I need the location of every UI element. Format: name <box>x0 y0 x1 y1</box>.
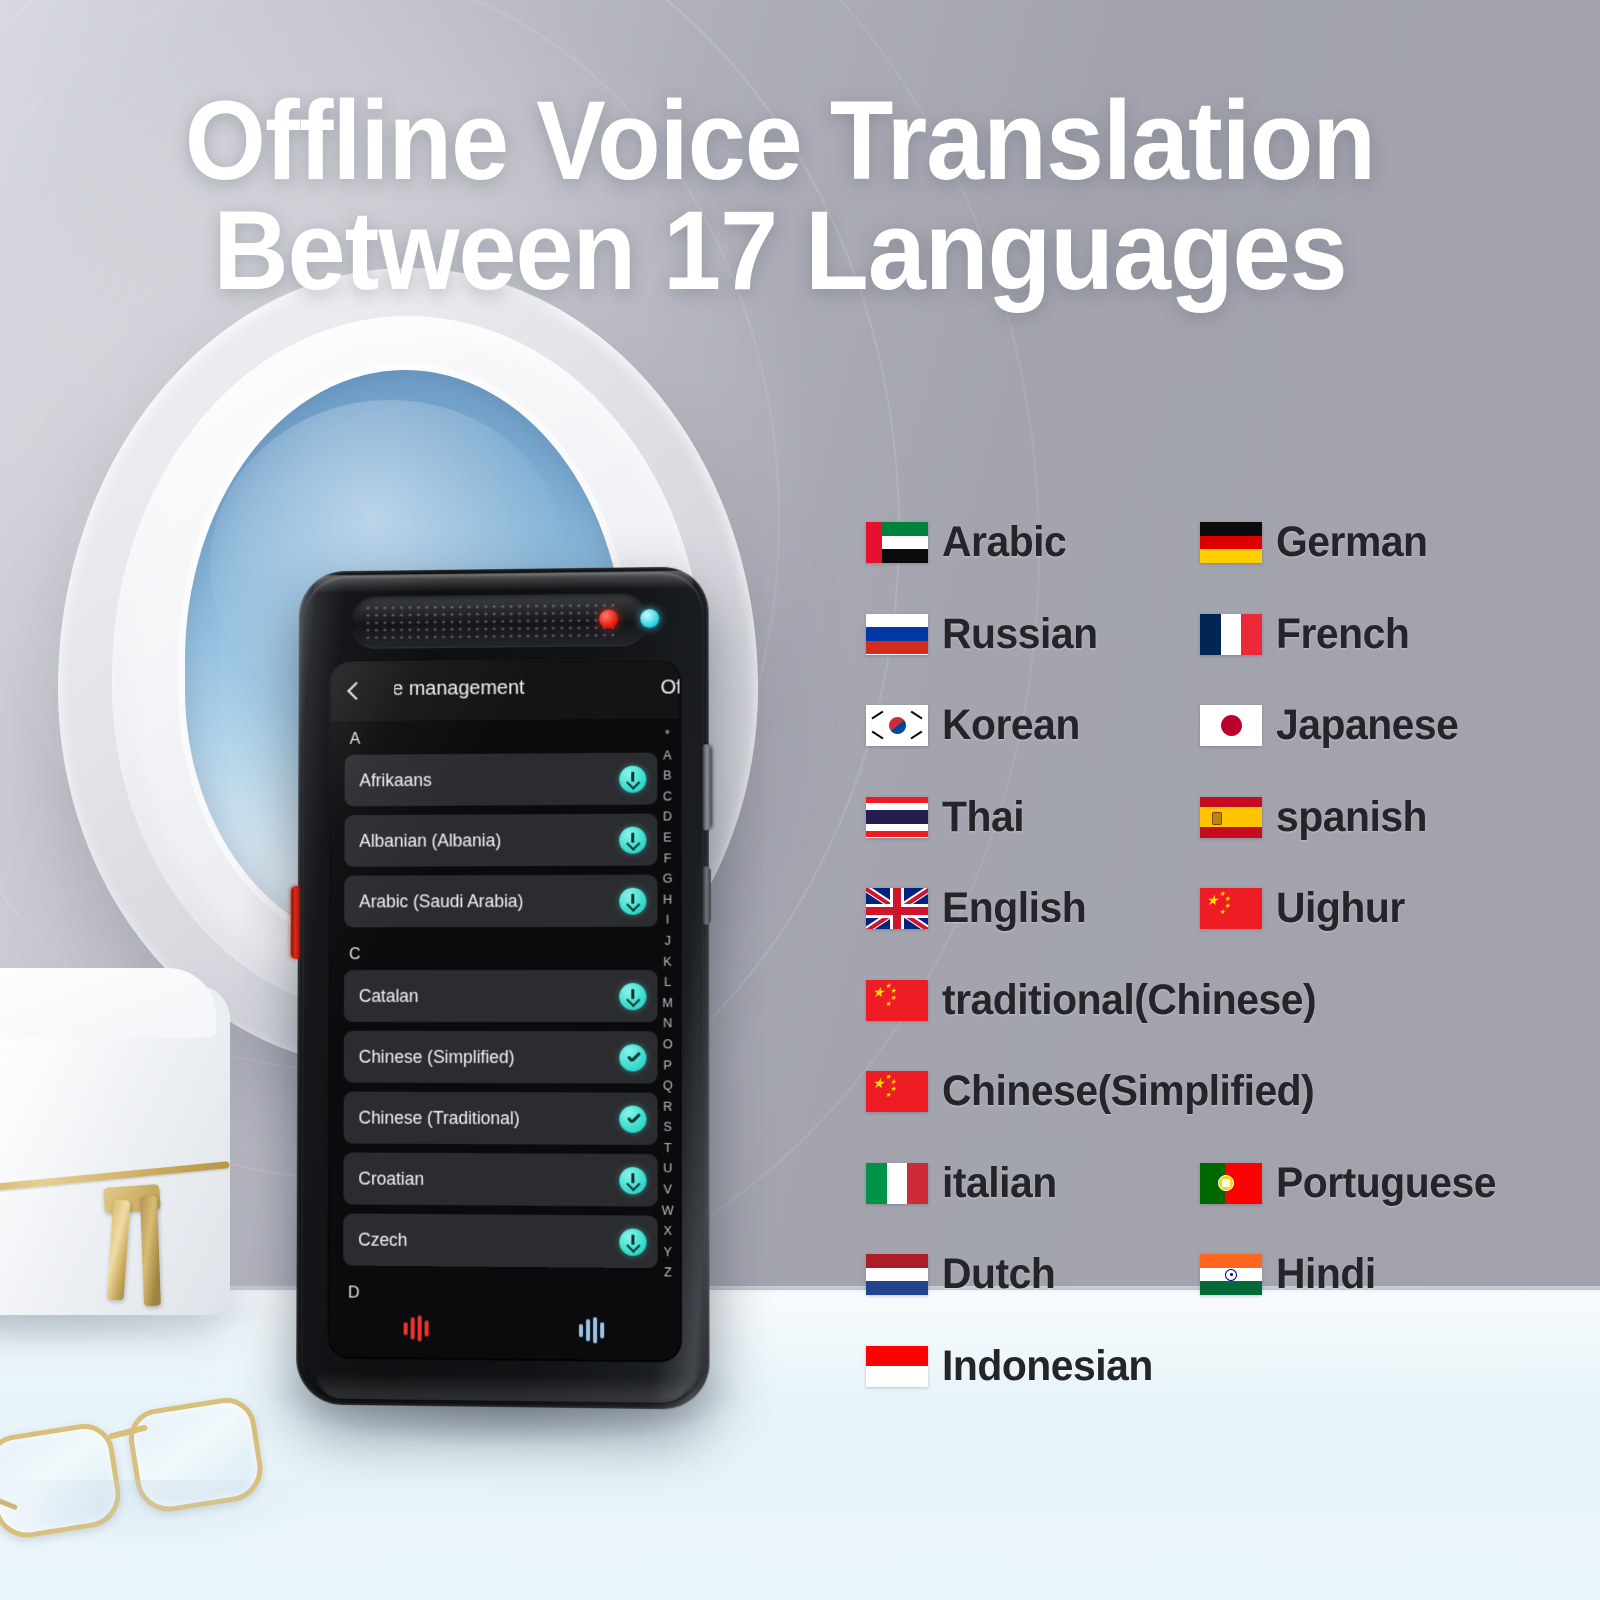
offline-label: Offl <box>661 676 680 699</box>
flag-icon-korean <box>866 705 928 746</box>
index-letter-A[interactable]: A <box>663 745 671 766</box>
flag-icon-chinese-simplified: ★★★★★ <box>866 1071 928 1112</box>
index-letter-I[interactable]: I <box>666 910 670 931</box>
index-letter-W[interactable]: W <box>662 1200 674 1221</box>
language-label: italian <box>942 1159 1057 1208</box>
language-label: English <box>942 884 1086 933</box>
record-led-indicator <box>599 609 618 628</box>
volume-button[interactable] <box>703 744 712 830</box>
translate-button[interactable] <box>291 886 300 959</box>
download-icon[interactable] <box>619 1167 646 1194</box>
language-label: Portuguese <box>1276 1159 1496 1208</box>
language-row[interactable]: Afrikaans <box>345 753 658 807</box>
index-letter-P[interactable]: P <box>663 1055 671 1076</box>
index-letter-Z[interactable]: Z <box>664 1263 672 1284</box>
language-row-label: Albanian (Albania) <box>344 830 501 852</box>
eyeglasses-reflection <box>0 1480 320 1550</box>
language-label: Thai <box>942 793 1024 842</box>
index-letter-L[interactable]: L <box>664 972 671 993</box>
flag-icon-french <box>1200 614 1262 655</box>
language-label: spanish <box>1276 793 1427 842</box>
language-entry: Portuguese <box>1200 1159 1508 1208</box>
language-row[interactable]: Catalan <box>344 970 658 1022</box>
language-row[interactable]: Albanian (Albania) <box>344 814 657 867</box>
language-entry: Thai <box>866 793 1028 842</box>
language-row-label: Chinese (Traditional) <box>344 1107 520 1129</box>
language-entry: spanish <box>1200 793 1435 842</box>
language-row[interactable]: Chinese (Simplified) <box>344 1031 658 1084</box>
device-body: e management Offl AAfrikaansAlbanian (Al… <box>296 566 709 1409</box>
index-letter-E[interactable]: E <box>663 827 671 848</box>
bag-lid <box>0 968 216 1038</box>
language-entry: German <box>1200 518 1436 567</box>
index-letter-T[interactable]: T <box>664 1138 672 1159</box>
language-row-label: Arabic (Saudi Arabia) <box>344 891 523 912</box>
language-grid-row: RussianFrench <box>866 610 1566 702</box>
download-icon[interactable] <box>619 766 646 793</box>
index-letter-H[interactable]: H <box>663 889 672 910</box>
screen-header: e management Offl <box>331 661 679 722</box>
language-label: Indonesian <box>942 1342 1153 1391</box>
language-grid-row: ArabicGerman <box>866 518 1566 610</box>
language-entry: ★★★★★traditional(Chinese) <box>866 976 1336 1025</box>
record-source-waveform-icon[interactable] <box>404 1315 429 1341</box>
language-label: Russian <box>942 610 1098 659</box>
language-row-label: Czech <box>343 1229 407 1251</box>
language-row[interactable]: Croatian <box>343 1152 657 1206</box>
language-label: Hindi <box>1276 1250 1376 1299</box>
download-icon[interactable] <box>619 888 646 915</box>
language-entry: Hindi <box>1200 1250 1381 1299</box>
index-letter-G[interactable]: G <box>663 869 673 890</box>
language-label: Dutch <box>942 1250 1055 1299</box>
language-entry: Indonesian <box>866 1342 1164 1391</box>
language-label: Uighur <box>1276 884 1405 933</box>
language-grid-row: English★★★★★Uighur <box>866 884 1566 976</box>
flag-icon-uighur: ★★★★★ <box>1200 888 1262 929</box>
screen-title: e management <box>392 677 524 701</box>
language-row-label: Afrikaans <box>345 770 432 791</box>
title-clip-mask <box>382 663 394 720</box>
flag-icon-japanese <box>1200 705 1262 746</box>
language-grid-row: ★★★★★traditional(Chinese) <box>866 976 1566 1068</box>
index-letter-F[interactable]: F <box>664 848 672 869</box>
language-row-label: Catalan <box>344 986 419 1007</box>
translator-device: e management Offl AAfrikaansAlbanian (Al… <box>296 567 708 1417</box>
language-entry: Arabic <box>866 518 1073 567</box>
language-grid-row: KoreanJapanese <box>866 701 1566 793</box>
download-icon[interactable] <box>619 1229 646 1256</box>
flag-icon-spanish <box>1200 797 1262 838</box>
language-row-label: Chinese (Simplified) <box>344 1046 515 1067</box>
flag-icon-traditional-chinese: ★★★★★ <box>866 980 928 1021</box>
download-icon[interactable] <box>619 983 646 1010</box>
device-screen[interactable]: e management Offl AAfrikaansAlbanian (Al… <box>329 661 680 1361</box>
index-letter-S[interactable]: S <box>663 1117 671 1138</box>
index-letter-N[interactable]: N <box>663 1013 672 1034</box>
language-label: traditional(Chinese) <box>942 976 1316 1025</box>
language-label: Japanese <box>1276 701 1458 750</box>
language-label: Chinese(Simplified) <box>942 1067 1314 1116</box>
language-row-label: Croatian <box>343 1168 424 1189</box>
language-label: Korean <box>942 701 1080 750</box>
language-grid-row: Thaispanish <box>866 793 1566 885</box>
index-letter-D[interactable]: D <box>663 807 672 828</box>
language-entry: ★★★★★Chinese(Simplified) <box>866 1067 1334 1116</box>
language-entry: ★★★★★Uighur <box>1200 884 1412 933</box>
language-grid-row: Indonesian <box>866 1342 1566 1434</box>
section-letter-C: C <box>344 936 657 970</box>
index-letter-R[interactable]: R <box>663 1096 672 1117</box>
language-entry: Korean <box>866 701 1087 750</box>
index-letter-M[interactable]: M <box>662 993 673 1014</box>
alphabet-index-scrollbar[interactable]: *ABCDEFGHIJKLMNOPQRSTUVWXYZ <box>658 724 677 1283</box>
language-row[interactable]: Czech <box>343 1213 657 1268</box>
section-letter-A: A <box>345 719 658 755</box>
index-letter-U[interactable]: U <box>663 1159 672 1180</box>
status-led-indicator <box>640 609 659 628</box>
page-title-line1: Offline Voice Translation <box>185 78 1375 203</box>
flag-icon-indonesian <box>866 1346 928 1387</box>
language-entry: italian <box>866 1159 1063 1208</box>
flag-icon-english <box>866 888 928 929</box>
index-letter-J[interactable]: J <box>664 931 670 952</box>
supported-languages-grid: ArabicGermanRussianFrenchKoreanJapaneseT… <box>866 518 1566 1433</box>
language-grid-row: italianPortuguese <box>866 1159 1566 1251</box>
language-entry: Japanese <box>1200 701 1468 750</box>
flag-icon-dutch <box>866 1254 928 1295</box>
flag-icon-german <box>1200 522 1262 563</box>
language-row[interactable]: Arabic (Saudi Arabia) <box>344 875 657 928</box>
flag-icon-thai <box>866 797 928 838</box>
record-target-waveform-icon[interactable] <box>579 1317 604 1344</box>
language-label: French <box>1276 610 1409 659</box>
language-grid-row: DutchHindi <box>866 1250 1566 1342</box>
language-row[interactable]: Chinese (Traditional) <box>344 1092 658 1145</box>
flag-icon-portuguese <box>1200 1163 1262 1204</box>
back-chevron-icon[interactable] <box>347 681 361 705</box>
index-letter-Q[interactable]: Q <box>663 1076 673 1097</box>
flag-icon-russian <box>866 614 928 655</box>
section-letter-D: D <box>343 1274 658 1301</box>
device-screen-bezel: e management Offl AAfrikaansAlbanian (Al… <box>327 658 682 1362</box>
index-letter-O[interactable]: O <box>663 1034 673 1055</box>
language-grid-row: ★★★★★Chinese(Simplified) <box>866 1067 1566 1159</box>
check-icon[interactable] <box>619 1044 646 1071</box>
index-letter-C[interactable]: C <box>663 786 672 807</box>
language-entry: French <box>1200 610 1416 659</box>
language-entry: English <box>866 884 1094 933</box>
index-letter-Y[interactable]: Y <box>664 1242 672 1263</box>
download-icon[interactable] <box>619 827 646 854</box>
index-letter-K[interactable]: K <box>663 951 671 972</box>
index-letter-V[interactable]: V <box>664 1179 672 1200</box>
language-label: Arabic <box>942 518 1066 567</box>
check-icon[interactable] <box>619 1106 646 1133</box>
index-letter-*[interactable]: * <box>665 724 670 745</box>
index-letter-B[interactable]: B <box>663 766 671 787</box>
screen-footer <box>329 1298 680 1360</box>
flag-icon-hindi <box>1200 1254 1262 1295</box>
language-entry: Russian <box>866 610 1106 659</box>
index-letter-X[interactable]: X <box>664 1221 672 1242</box>
flag-icon-arabic <box>866 522 928 563</box>
power-button[interactable] <box>703 866 711 924</box>
language-entry: Dutch <box>866 1250 1061 1299</box>
page-title: Offline Voice Translation Between 17 Lan… <box>55 86 1506 306</box>
flag-icon-italian <box>866 1163 928 1204</box>
language-download-list[interactable]: AAfrikaansAlbanian (Albania)Arabic (Saud… <box>329 718 680 1301</box>
page-title-line2: Between 17 Languages <box>55 196 1506 306</box>
language-label: German <box>1276 518 1428 567</box>
